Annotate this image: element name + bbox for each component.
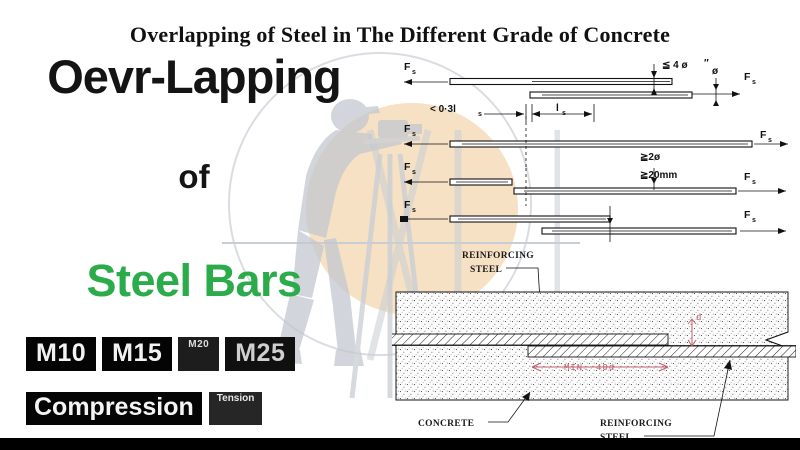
force-label-left-2: F [404,123,411,135]
lap-row-1: F s F s ≦ 4 ø ′′ ø [404,58,756,106]
dim-max-offset: < 0·3l [430,104,456,115]
dim-clear-top: ≦ 4 ø [662,60,688,71]
force-sub-left-4: s [412,207,416,214]
page-title: Overlapping of Steel in The Different Gr… [0,22,800,48]
dim-lap-length-sub: s [562,110,566,117]
force-label-right-1: F [744,71,751,83]
force-label-right-3: F [744,171,751,183]
mode-badge-tension[interactable]: Tension [209,392,263,425]
lap-splice-diagram: F s F s ≦ 4 ø ′′ ø < 0·3l s [392,56,796,242]
lap-min-gap-annotations: ≧2ø ≧20mm [640,152,677,181]
force-sub-right-3: s [752,179,756,186]
dim-lap-length: l [556,103,559,114]
force-label-left-3: F [404,161,411,173]
force-sub-left-1: s [412,69,416,76]
grade-badge-m20[interactable]: M20 [178,337,219,371]
dim-min-lap: MIN. 40d [564,363,615,373]
dim-min-gap-mm: ≧20mm [640,170,677,181]
force-label-right-2: F [760,129,767,141]
force-label-right-4: F [744,209,751,221]
force-label-left-1: F [404,61,411,73]
mode-badge-list: Compression Tension [26,392,262,425]
label-reinforcing-steel-top-line1: REINFORCING [462,251,534,261]
grade-badge-m10[interactable]: M10 [26,337,96,371]
lap-dimension-band: < 0·3l s l s [430,103,594,122]
lap-row-3: F s F s [404,161,786,206]
concrete-section-diagram: REINFORCING STEEL d MIN. 40d [392,236,796,440]
slide-canvas: Overlapping of Steel in The Different Gr… [0,0,800,450]
dim-diameter-top: ø [712,66,719,77]
lap-row-2: F s F s [404,116,788,168]
dim-bar-dia: d [696,313,702,323]
dim-clear-top-mark: ′′ [704,58,709,69]
force-sub-right-2: s [768,137,772,144]
label-reinforcing-steel-top-line2: STEEL [470,265,502,275]
footer-bar [0,438,800,450]
headline-connector: of [16,160,372,193]
grade-badge-m25[interactable]: M25 [225,337,295,371]
force-sub-right-4: s [752,217,756,224]
force-sub-left-2: s [412,131,416,138]
force-sub-right-1: s [752,79,756,86]
force-sub-left-3: s [412,169,416,176]
dim-min-gap: ≧2ø [640,152,661,163]
force-label-left-4: F [404,199,411,211]
mode-badge-compression[interactable]: Compression [26,392,202,425]
headline-subject: Steel Bars [16,258,372,303]
grade-badge-m15[interactable]: M15 [102,337,172,371]
dim-max-offset-sub: s [478,111,482,118]
label-concrete: CONCRETE [418,419,474,429]
headline-primary: Oevr-Lapping [16,53,372,100]
grade-badge-list: M10 M15 M20 M25 [26,337,295,371]
label-reinforcing-steel-bottom-line1: REINFORCING [600,419,672,429]
